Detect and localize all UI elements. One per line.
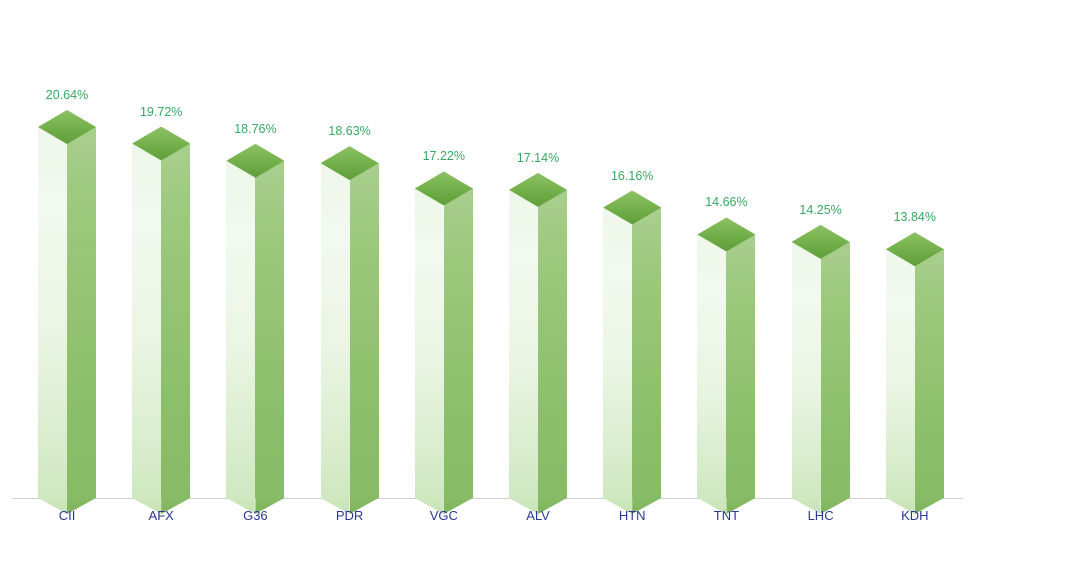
bar-face-right bbox=[67, 127, 96, 498]
bar-face-right bbox=[821, 242, 850, 498]
bar-vgc[interactable] bbox=[415, 171, 473, 514]
bar-face-left bbox=[38, 127, 67, 498]
bar-face-left bbox=[886, 249, 915, 498]
bar-afx[interactable] bbox=[132, 127, 190, 514]
bar-face-left bbox=[697, 234, 726, 498]
value-label-htn: 16.16% bbox=[572, 169, 692, 183]
bar-face-right bbox=[444, 188, 473, 498]
bar-face-left bbox=[321, 163, 350, 498]
value-label-cii: 20.64% bbox=[7, 88, 127, 102]
category-label-kdh: KDH bbox=[855, 508, 975, 523]
bar-face-right bbox=[161, 144, 190, 498]
bar-g36[interactable] bbox=[226, 144, 284, 514]
bar-cii[interactable] bbox=[38, 110, 96, 514]
bar-htn[interactable] bbox=[603, 191, 661, 514]
bar-face-left bbox=[415, 188, 444, 498]
plot-area: 20.64%CII19.72%AFX18.76%G3618.63%PDR17.2… bbox=[0, 0, 1092, 578]
bar-face-right bbox=[350, 163, 379, 498]
value-label-alv: 17.14% bbox=[478, 151, 598, 165]
bar-face-left bbox=[603, 208, 632, 498]
bar-face-left bbox=[509, 190, 538, 498]
bar-face-left bbox=[792, 242, 821, 498]
bar-face-left bbox=[226, 161, 255, 498]
bar-face-left bbox=[132, 144, 161, 498]
bar-face-right bbox=[632, 208, 661, 498]
bar-kdh[interactable] bbox=[886, 232, 944, 514]
bar-face-right bbox=[538, 190, 567, 498]
bar-tnt[interactable] bbox=[697, 217, 755, 514]
bar-alv[interactable] bbox=[509, 173, 567, 514]
value-label-pdr: 18.63% bbox=[290, 124, 410, 138]
column-chart: 20.64%CII19.72%AFX18.76%G3618.63%PDR17.2… bbox=[0, 0, 1092, 578]
value-label-afx: 19.72% bbox=[101, 105, 221, 119]
bar-face-right bbox=[255, 161, 284, 498]
value-label-kdh: 13.84% bbox=[855, 210, 975, 224]
bar-pdr[interactable] bbox=[321, 146, 379, 514]
bar-lhc[interactable] bbox=[792, 225, 850, 514]
bar-face-right bbox=[726, 234, 755, 498]
bar-face-right bbox=[915, 249, 944, 498]
